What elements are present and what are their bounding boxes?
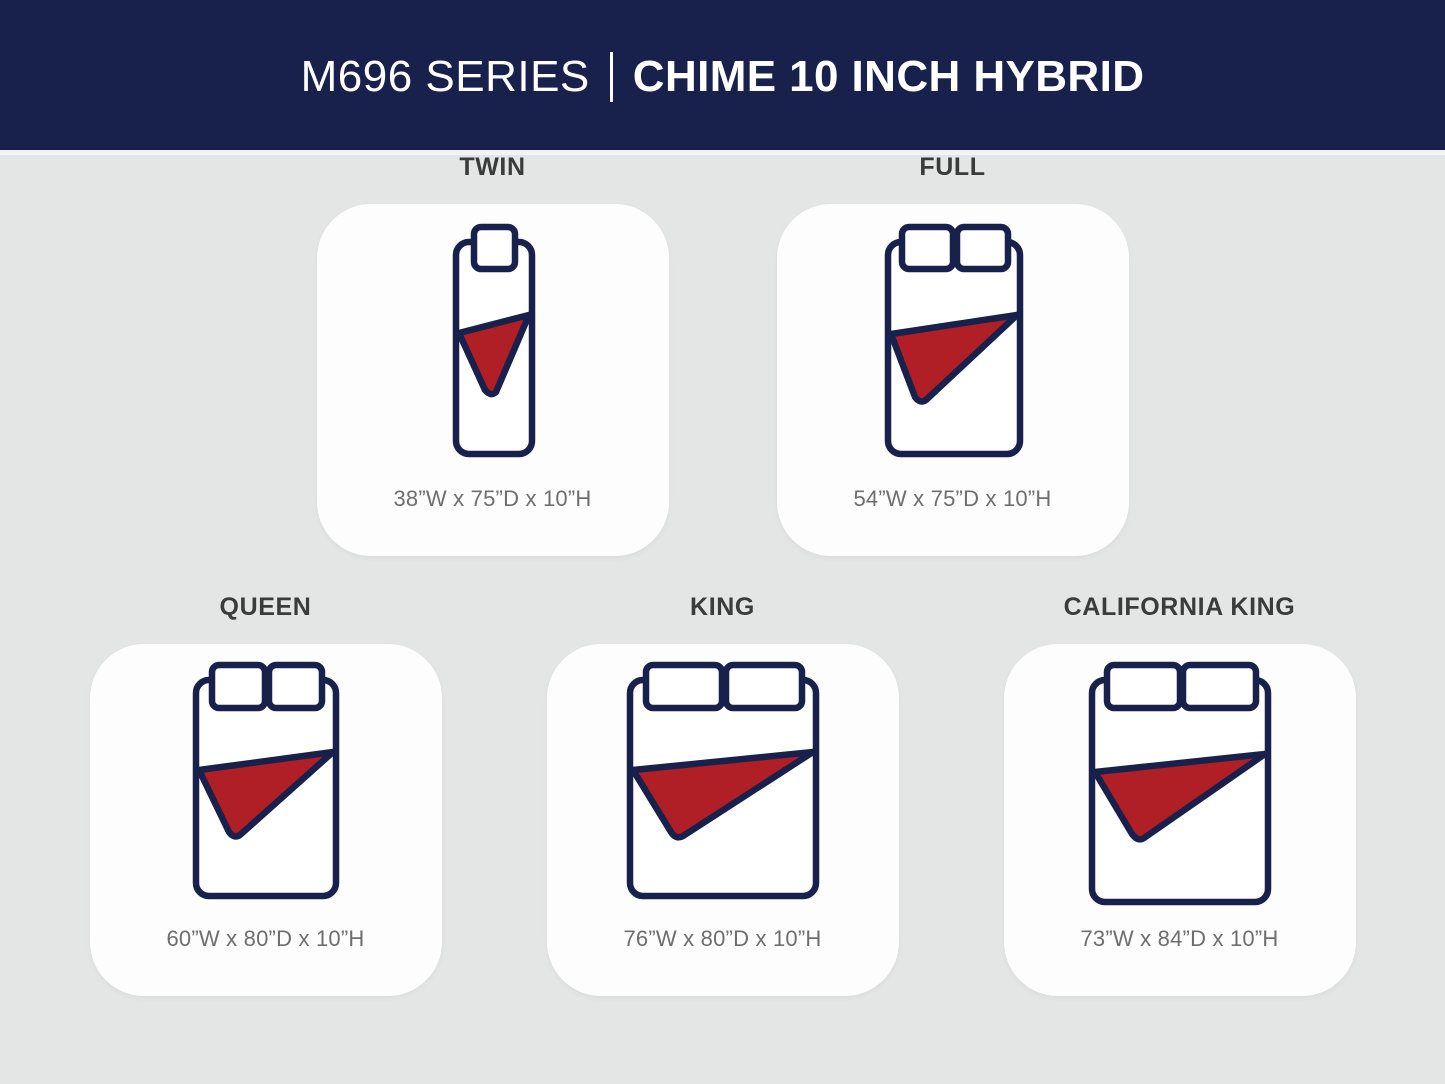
bed-icon-full: [803, 214, 1103, 482]
dimensions-full: 54”W x 75”D x 10”H: [854, 488, 1052, 510]
product-name-label: CHIME 10 INCH HYBRID: [633, 55, 1145, 99]
size-row-top: TWIN 38”W x 75”D x 10”H FULL: [0, 155, 1445, 556]
page-header: M696 SERIES CHIME 10 INCH HYBRID: [0, 0, 1445, 150]
size-card-twin[interactable]: 38”W x 75”D x 10”H: [317, 204, 669, 556]
series-label: M696 SERIES: [301, 55, 590, 99]
bed-icon-king: [573, 654, 873, 922]
bed-icon-california-king: [1030, 654, 1330, 922]
title-divider-icon: [610, 52, 613, 102]
size-cell-full[interactable]: FULL 54”W x 75”D x 10”H: [777, 155, 1129, 556]
size-row-bottom: QUEEN 60”W x 80”D x 10”H KING: [0, 595, 1445, 996]
size-card-full[interactable]: 54”W x 75”D x 10”H: [777, 204, 1129, 556]
size-card-queen[interactable]: 60”W x 80”D x 10”H: [90, 644, 442, 996]
size-cell-twin[interactable]: TWIN 38”W x 75”D x 10”H: [317, 155, 669, 556]
dimensions-queen: 60”W x 80”D x 10”H: [167, 928, 365, 950]
dimensions-twin: 38”W x 75”D x 10”H: [394, 488, 592, 510]
size-label-king: KING: [690, 595, 755, 620]
size-chart-board: TWIN 38”W x 75”D x 10”H FULL: [0, 155, 1445, 1084]
size-cell-queen[interactable]: QUEEN 60”W x 80”D x 10”H: [90, 595, 442, 996]
bed-icon-twin: [343, 214, 643, 482]
size-card-california-king[interactable]: 73”W x 84”D x 10”H: [1004, 644, 1356, 996]
size-label-california-king: CALIFORNIA KING: [1064, 595, 1296, 620]
size-label-twin: TWIN: [459, 155, 525, 180]
size-card-king[interactable]: 76”W x 80”D x 10”H: [547, 644, 899, 996]
bed-icon-queen: [116, 654, 416, 922]
dimensions-king: 76”W x 80”D x 10”H: [624, 928, 822, 950]
page-title: M696 SERIES CHIME 10 INCH HYBRID: [301, 52, 1145, 102]
size-label-full: FULL: [919, 155, 985, 180]
size-cell-king[interactable]: KING 76”W x 80”D x 10”H: [547, 595, 899, 996]
dimensions-california-king: 73”W x 84”D x 10”H: [1081, 928, 1279, 950]
size-cell-california-king[interactable]: CALIFORNIA KING 73”W x 84”D x 10”H: [1004, 595, 1356, 996]
size-label-queen: QUEEN: [220, 595, 312, 620]
